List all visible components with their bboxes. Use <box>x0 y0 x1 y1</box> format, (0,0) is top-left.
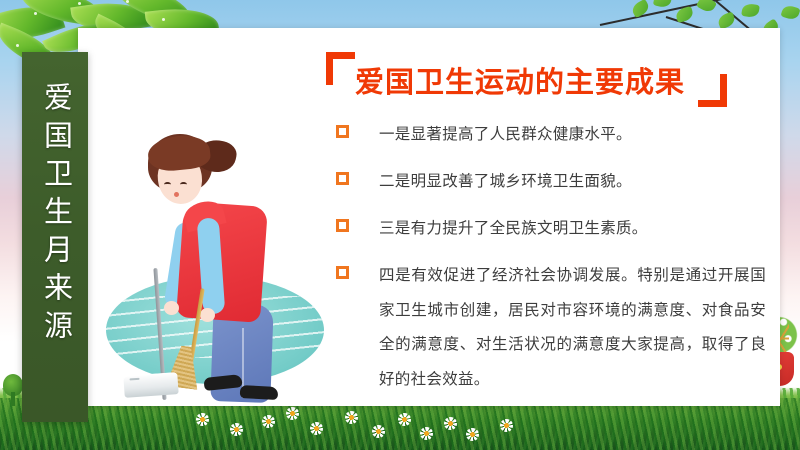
volunteer-figure <box>104 118 330 398</box>
title-block: 爱国卫生运动的主要成果 <box>326 52 726 108</box>
daisy-icon <box>444 417 457 430</box>
daisy-icon <box>372 425 385 438</box>
list-item-text: 四是有效促进了经济社会协调发展。特别是通过开展国家卫生城市创建，居民对市容环境的… <box>379 259 766 399</box>
hollow-square-icon <box>336 219 349 232</box>
daisy-icon <box>398 413 411 426</box>
bracket-top-left-icon <box>326 52 355 85</box>
list-item: 三是有力提升了全民族文明卫生素质。 <box>336 212 766 247</box>
list-item-text: 二是明显改善了城乡环境卫生面貌。 <box>379 165 766 200</box>
slide: 爱国卫生月来源 爱国卫生运动的主要成果 <box>0 0 800 450</box>
list-item: 四是有效促进了经济社会协调发展。特别是通过开展国家卫生城市创建，居民对市容环境的… <box>336 259 766 399</box>
dustpan-icon <box>123 372 178 398</box>
daisy-icon <box>420 427 433 440</box>
page-title: 爱国卫生运动的主要成果 <box>355 59 685 101</box>
daisy-icon <box>230 423 243 436</box>
volunteer-illustration <box>104 118 330 398</box>
list-item-text: 三是有力提升了全民族文明卫生素质。 <box>379 212 766 247</box>
small-tree-icon <box>3 374 23 408</box>
sidebar-title: 爱国卫生月来源 <box>41 82 70 348</box>
daisy-icon <box>345 411 358 424</box>
daisy-icon <box>286 407 299 420</box>
sidebar-banner: 爱国卫生月来源 <box>22 52 88 422</box>
bracket-bottom-right-icon <box>698 74 727 107</box>
list-item-text: 一是显著提高了人民群众健康水平。 <box>379 118 766 153</box>
daisy-icon <box>500 419 513 432</box>
daisy-icon <box>310 422 323 435</box>
daisy-icon <box>196 413 209 426</box>
hollow-square-icon <box>336 125 349 138</box>
hollow-square-icon <box>336 266 349 279</box>
list-item: 二是明显改善了城乡环境卫生面貌。 <box>336 165 766 200</box>
bullet-list: 一是显著提高了人民群众健康水平。 二是明显改善了城乡环境卫生面貌。 三是有力提升… <box>336 118 766 410</box>
list-item: 一是显著提高了人民群众健康水平。 <box>336 118 766 153</box>
daisy-icon <box>466 428 479 441</box>
daisy-icon <box>262 415 275 428</box>
hollow-square-icon <box>336 172 349 185</box>
